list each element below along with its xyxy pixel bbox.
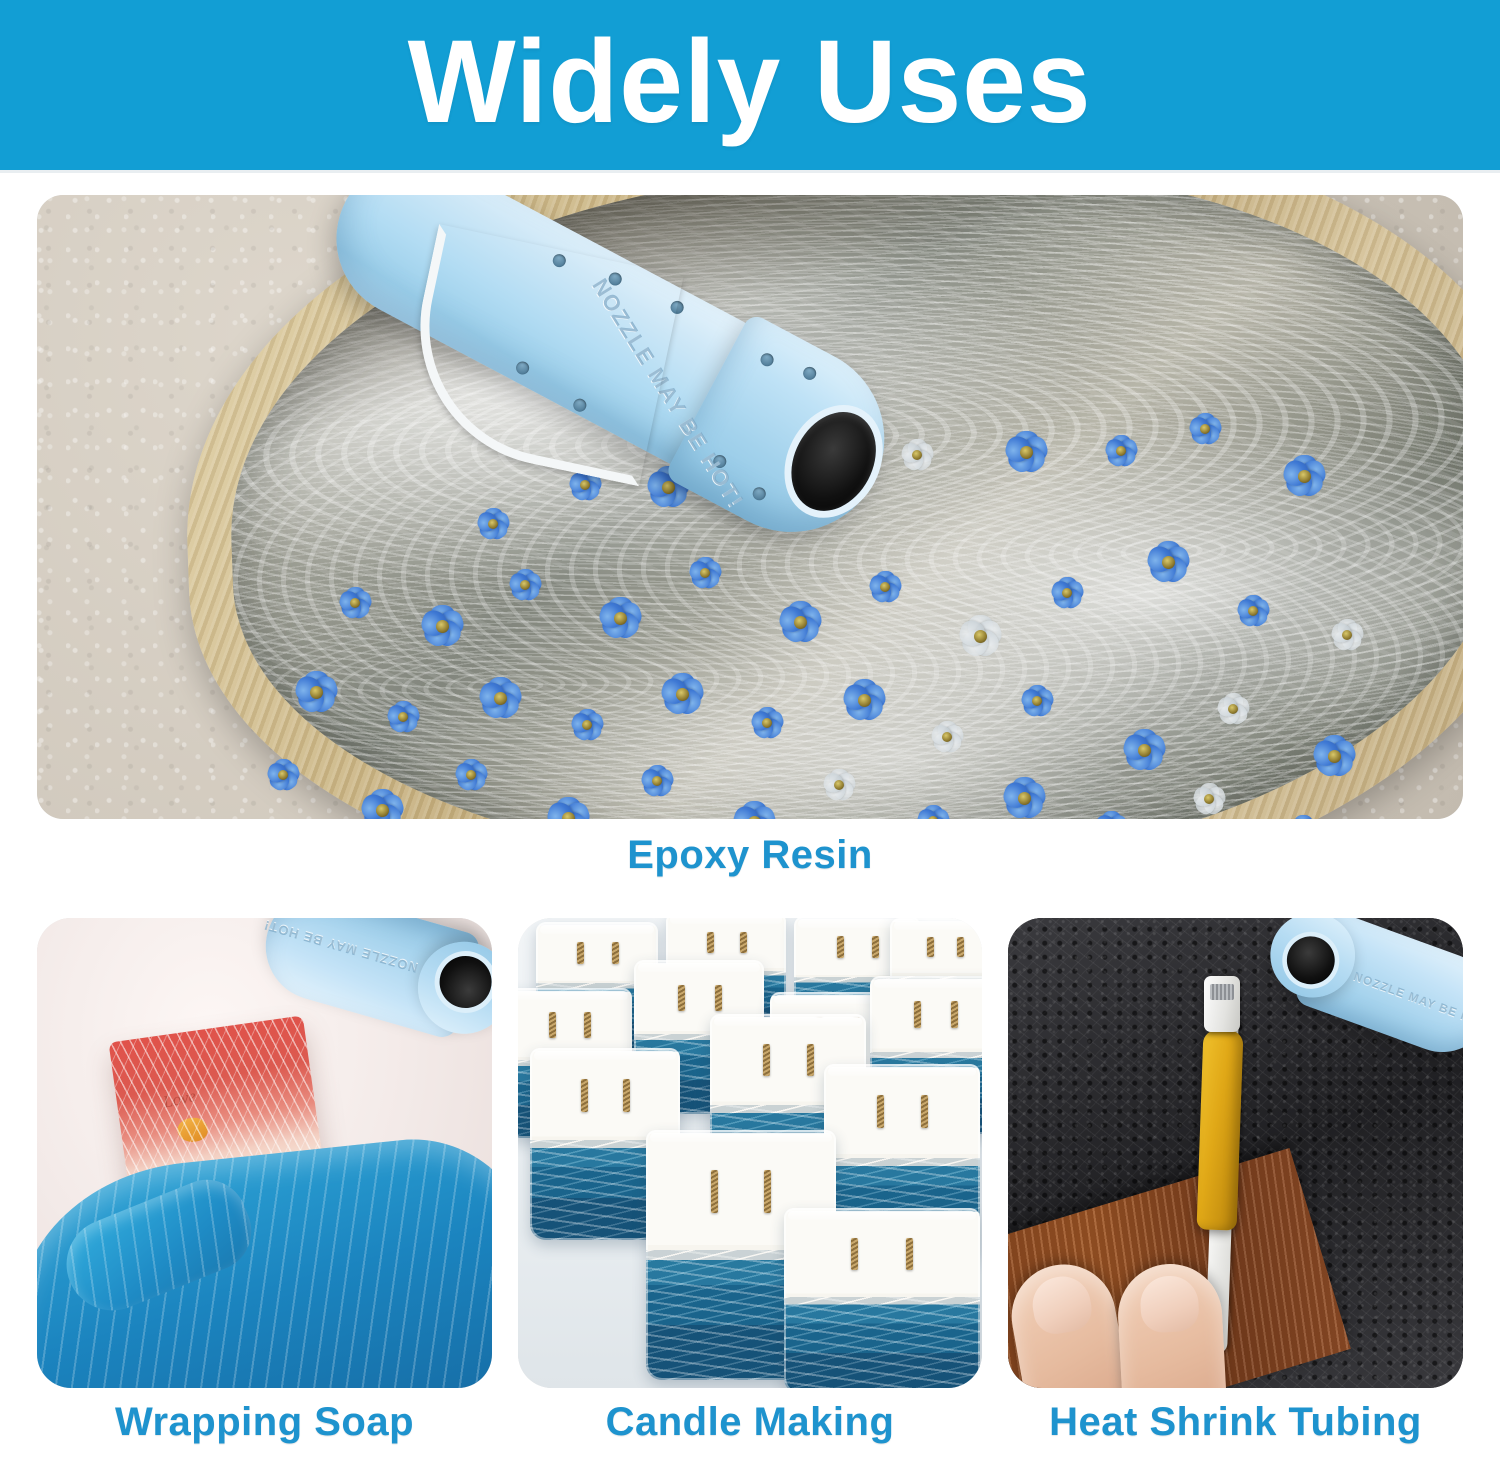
flower-center (310, 686, 323, 699)
flower-center (562, 812, 575, 820)
candle-wick (921, 1095, 928, 1128)
caption-epoxy-resin: Epoxy Resin (0, 833, 1500, 878)
page-title: Widely Uses (408, 23, 1092, 147)
pressed-flower (655, 667, 709, 721)
fingernail (1028, 1272, 1095, 1337)
pressed-flower (837, 673, 891, 727)
candle-wick (877, 1095, 884, 1128)
flower-center (652, 776, 662, 786)
jar-rim (670, 918, 782, 924)
flower-center (1032, 696, 1042, 706)
soap-label-text: Love (161, 1086, 197, 1112)
panel-wrapping-soap: NOZZLE MAY BE HOT! Love (37, 918, 492, 1388)
flower-center (488, 519, 498, 529)
vent-hole-icon (758, 351, 776, 369)
pressed-flower (927, 717, 967, 757)
candle-wick (549, 1012, 556, 1038)
flower-center (928, 816, 938, 819)
pressed-flower (913, 801, 953, 819)
candle-wick (715, 985, 722, 1011)
nozzle-opening (433, 950, 492, 1014)
candle-wick (927, 937, 934, 957)
pressed-flower (1307, 729, 1361, 783)
flower-center (880, 582, 890, 592)
candle-wick (581, 1079, 588, 1112)
flower-center (1018, 792, 1031, 805)
flower-center (1248, 606, 1258, 616)
pressed-flower (383, 697, 423, 737)
flower-center (834, 780, 844, 790)
flower-center (1162, 556, 1175, 569)
caption-heat-shrink-tubing: Heat Shrink Tubing (1008, 1400, 1463, 1445)
flower-center (942, 732, 952, 742)
jar-rim (650, 1133, 832, 1142)
pressed-flower (685, 553, 725, 593)
pressed-flower (289, 665, 343, 719)
pressed-flower (953, 609, 1007, 663)
candle-wick (577, 942, 584, 964)
flower-center (794, 616, 807, 629)
jar-rim (894, 921, 982, 930)
pressed-flower (1117, 723, 1171, 777)
pressed-flower (473, 504, 513, 544)
pressed-flower (1047, 573, 1087, 613)
pressed-flower (1277, 449, 1331, 503)
flower-center (278, 770, 288, 780)
pressed-flower (1185, 409, 1225, 449)
flower-center (436, 620, 449, 633)
pressed-flower (637, 761, 677, 801)
jar-rim (518, 991, 628, 1000)
candle-wick (957, 937, 964, 957)
pressed-flower (773, 595, 827, 649)
flower-center (1116, 446, 1126, 456)
pressed-flower (997, 771, 1051, 819)
candle-wick (851, 1238, 858, 1270)
lightning-connector (1204, 976, 1240, 1032)
flower-center (1228, 704, 1238, 714)
pressed-flower (747, 703, 787, 743)
pressed-flower (355, 783, 409, 819)
flower-center (1062, 588, 1072, 598)
candle-wick (951, 1001, 958, 1028)
flower-center (1020, 446, 1033, 459)
pressed-flower (567, 705, 607, 745)
flower-center (912, 450, 922, 460)
pressed-flower (1101, 431, 1141, 471)
jar-rim (714, 1017, 862, 1026)
candle-wick (612, 942, 619, 964)
pressed-flower (1327, 615, 1367, 655)
flower-center (582, 720, 592, 730)
flower-center (350, 598, 360, 608)
fingernail (1139, 1275, 1200, 1334)
candle-wick (914, 1001, 921, 1028)
vent-hole-icon (750, 485, 768, 503)
candle-wick (623, 1079, 630, 1112)
pressed-flower (999, 425, 1053, 479)
flower-center (1200, 424, 1210, 434)
candle-wick (764, 1170, 771, 1213)
candle-wick (763, 1044, 770, 1076)
candle-wick (837, 936, 844, 958)
pressed-flower (473, 671, 527, 725)
candle-wick (707, 932, 714, 953)
flower-center (1328, 750, 1341, 763)
vent-hole-icon (801, 365, 819, 383)
candle-wick (740, 932, 747, 953)
jar-rim (828, 1067, 976, 1076)
pressed-flower (505, 565, 545, 605)
flower-center (1298, 470, 1311, 483)
jar-rim (874, 979, 982, 988)
header-banner: Widely Uses (0, 0, 1500, 170)
pressed-flower (415, 599, 469, 653)
pressed-flower (819, 765, 859, 805)
candle-wick (906, 1238, 913, 1270)
infographic-page: Widely Uses (0, 0, 1500, 1477)
candle-wick (678, 985, 685, 1011)
pressed-flower (1213, 689, 1253, 729)
jar-rim (534, 1051, 676, 1060)
pressed-flower (335, 583, 375, 623)
candle-wick (807, 1044, 814, 1076)
pressed-flower (1189, 779, 1229, 819)
pressed-flower (541, 791, 595, 819)
pressed-flower (1233, 591, 1273, 631)
hero-image-epoxy-resin: NOZZLE MAY BE HOT! (37, 195, 1463, 819)
flower-center (580, 480, 590, 490)
pressed-flower (263, 755, 303, 795)
heat-shrink-tubing (1197, 1029, 1244, 1230)
pressed-flower (727, 795, 781, 819)
flower-center (376, 804, 389, 817)
candle-jar (784, 1208, 980, 1388)
jar-rim (540, 925, 654, 934)
candle-wick (872, 936, 879, 958)
flower-center (700, 568, 710, 578)
banner-divider (0, 170, 1500, 173)
pressed-flower (593, 591, 647, 645)
blue-wave-wax (784, 1297, 980, 1388)
pressed-flower (1017, 681, 1057, 721)
pressed-flower (897, 435, 937, 475)
pressed-flower (865, 567, 905, 607)
pressed-flower (1141, 535, 1195, 589)
candle-wick (711, 1170, 718, 1213)
soap-orange-accent (176, 1116, 209, 1144)
pressed-flower (451, 755, 491, 795)
candle-wick (584, 1012, 591, 1038)
flower-center (398, 712, 408, 722)
flower-center (676, 688, 689, 701)
panel-heat-shrink-tubing: NOZZLE MAY BE HO (1008, 918, 1463, 1388)
flower-center (762, 718, 772, 728)
flower-center (466, 770, 476, 780)
panel-candle-making (518, 918, 982, 1388)
flower-center (614, 612, 627, 625)
pressed-flower (1091, 807, 1131, 819)
flower-center (520, 580, 530, 590)
flower-center (974, 630, 987, 643)
flower-center (1204, 794, 1214, 804)
flower-center (1138, 744, 1151, 757)
caption-candle-making: Candle Making (518, 1400, 982, 1445)
jar-rim (788, 1211, 976, 1220)
nozzle-opening (1280, 930, 1341, 991)
jar-rim (638, 963, 760, 972)
flower-center (858, 694, 871, 707)
pressed-flower (1283, 811, 1323, 819)
flower-center (1342, 630, 1352, 640)
caption-wrapping-soap: Wrapping Soap (37, 1400, 492, 1445)
flower-center (494, 692, 507, 705)
